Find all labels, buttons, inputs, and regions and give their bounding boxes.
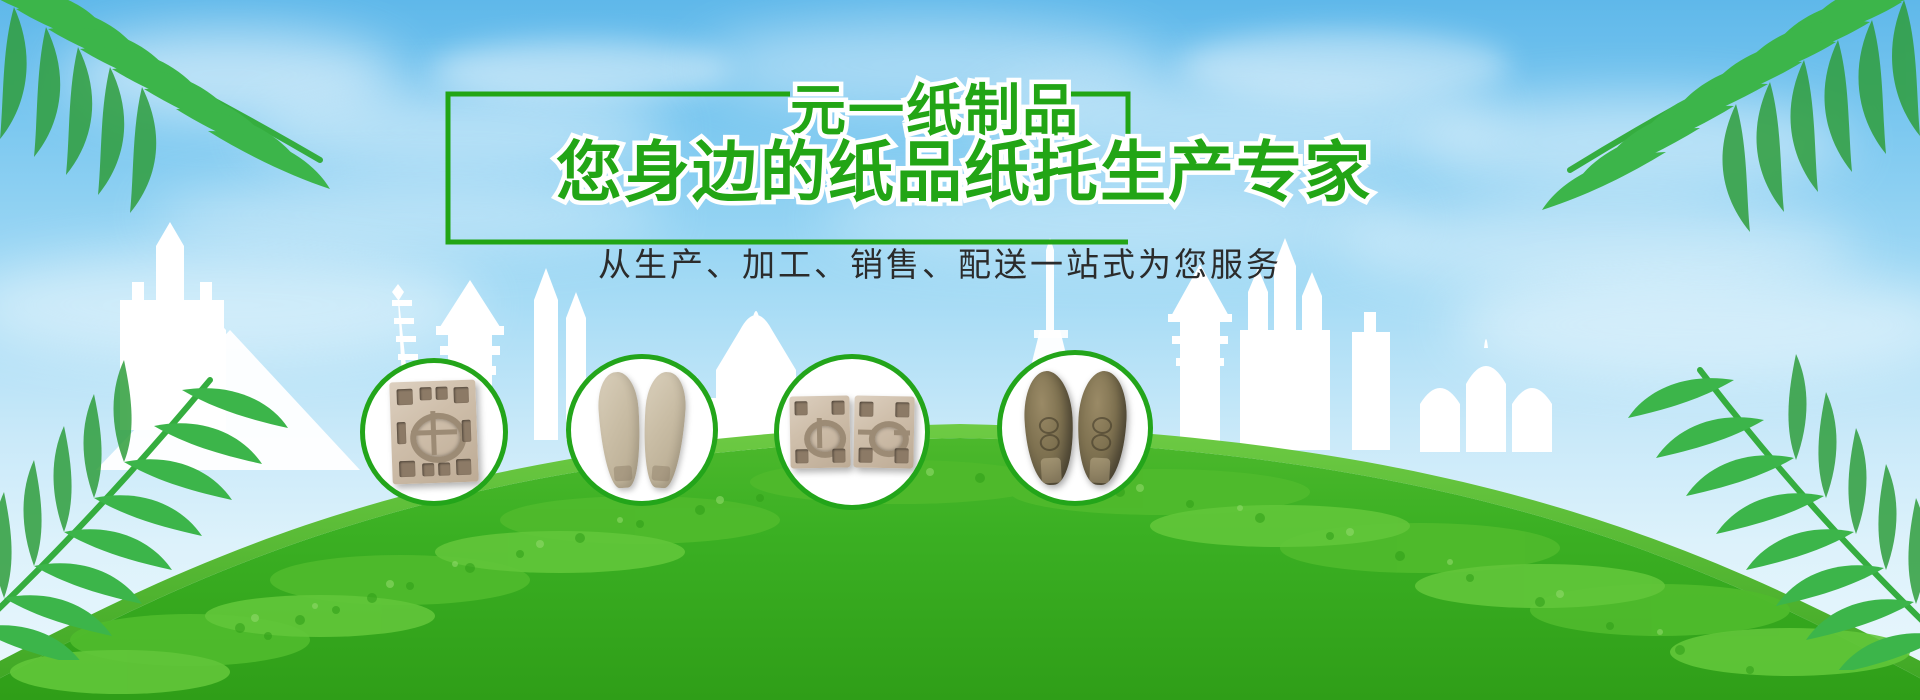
headline-line-1: 元一纸制品 bbox=[790, 84, 1080, 140]
subtitle-text: 从生产、加工、销售、配送一站式为您服务 bbox=[598, 238, 1282, 286]
product-circle-3[interactable] bbox=[774, 354, 930, 510]
product-circle-2[interactable] bbox=[566, 354, 718, 506]
product-circle-4[interactable] bbox=[997, 350, 1153, 506]
palm-frond-top-left bbox=[0, 0, 370, 245]
headline-block: 元一纸制品 您身边的纸品纸托生产专家 bbox=[548, 88, 1268, 238]
palm-frond-bottom-right bbox=[1600, 330, 1920, 670]
product-circle-1[interactable] bbox=[360, 358, 508, 506]
molded-pulp-insole-pair-image bbox=[596, 371, 688, 489]
molded-pulp-square-tray-image bbox=[389, 380, 479, 485]
hero-banner: 元一纸制品 您身边的纸品纸托生产专家 从生产、加工、销售、配送一站式为您服务 bbox=[0, 0, 1920, 700]
molded-pulp-shoe-form-pair-image bbox=[1023, 370, 1127, 486]
headline-line-2: 您身边的纸品纸托生产专家 bbox=[556, 140, 1372, 206]
palm-frond-top-right bbox=[1480, 0, 1920, 260]
molded-pulp-tray-pair-image bbox=[790, 395, 914, 469]
palm-frond-bottom-left bbox=[0, 340, 290, 660]
